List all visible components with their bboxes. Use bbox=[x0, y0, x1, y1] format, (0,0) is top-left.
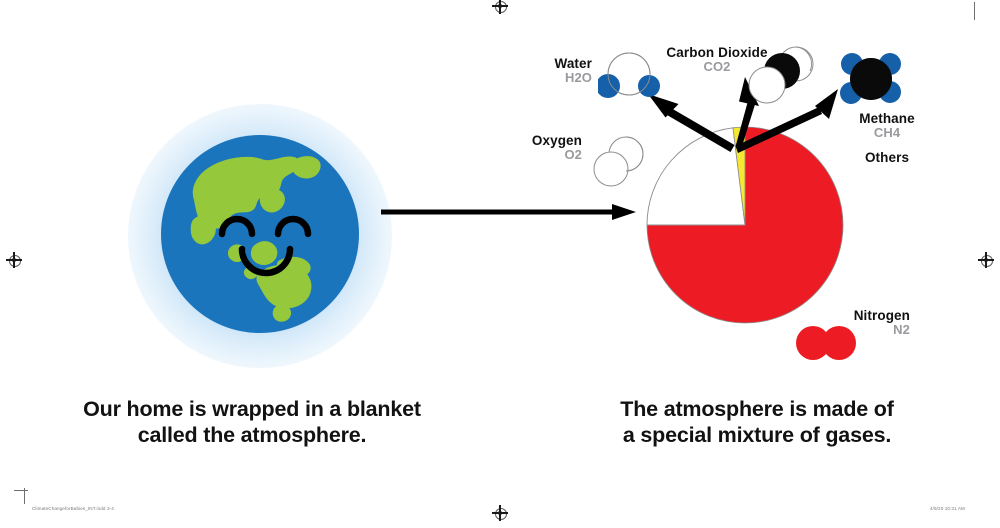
methane-molecule bbox=[840, 52, 902, 108]
nitrogen-label-formula: N2 bbox=[820, 323, 910, 338]
arrow-earth-to-pie bbox=[381, 204, 636, 220]
nitrogen-label-name: Nitrogen bbox=[820, 308, 910, 323]
carbon-dioxide-label-formula: CO2 bbox=[657, 60, 777, 75]
right-caption-line1: The atmosphere is made of bbox=[545, 396, 969, 422]
water-molecule bbox=[598, 52, 660, 100]
left-caption: Our home is wrapped in a blanket called … bbox=[40, 396, 464, 448]
label-carbon-dioxide: Carbon Dioxide CO2 bbox=[657, 45, 777, 75]
earth-globe bbox=[160, 134, 360, 334]
methane-label-formula: CH4 bbox=[841, 126, 933, 141]
oxygen-atom-2 bbox=[594, 152, 628, 186]
label-nitrogen: Nitrogen N2 bbox=[820, 308, 910, 338]
earth-illustration bbox=[128, 104, 392, 368]
methane-label-name: Methane bbox=[841, 111, 933, 126]
oxygen-molecule bbox=[590, 136, 648, 188]
left-caption-line1: Our home is wrapped in a blanket bbox=[40, 396, 464, 422]
footer-timestamp: 4/9/20 10:31 AM bbox=[930, 506, 965, 511]
others-label-name: Others bbox=[841, 150, 933, 165]
trim-mark-left-top bbox=[14, 490, 28, 491]
label-others: Others bbox=[841, 150, 933, 165]
trim-mark-top-right bbox=[974, 2, 975, 20]
atmosphere-pie-chart bbox=[645, 125, 845, 325]
hydrogen-atom-2 bbox=[638, 75, 660, 97]
registration-mark-top-center bbox=[492, 0, 508, 14]
water-label-name: Water bbox=[498, 56, 592, 71]
pie-slice-oxygen bbox=[647, 128, 745, 225]
registration-mark-right-center bbox=[978, 252, 994, 268]
water-label-formula: H2O bbox=[498, 71, 592, 86]
right-caption-line2: a special mixture of gases. bbox=[545, 422, 969, 448]
oxygen-label-name: Oxygen bbox=[486, 133, 582, 148]
oxygen-label-formula: O2 bbox=[486, 148, 582, 163]
label-methane: Methane CH4 bbox=[841, 111, 933, 141]
label-water: Water H2O bbox=[498, 56, 592, 86]
carbon-dioxide-label-name: Carbon Dioxide bbox=[657, 45, 777, 60]
footer-file-name: ClimateChangeforBabies_INT.indd 3-4 bbox=[32, 506, 114, 511]
right-caption: The atmosphere is made of a special mixt… bbox=[545, 396, 969, 448]
registration-mark-left-center bbox=[6, 252, 22, 268]
left-caption-line2: called the atmosphere. bbox=[40, 422, 464, 448]
registration-mark-bottom-center bbox=[492, 505, 508, 521]
label-oxygen: Oxygen O2 bbox=[486, 133, 582, 163]
illustration-page: Water H2O Oxygen O2 Carbon Dioxide CO2 M… bbox=[0, 0, 1000, 523]
